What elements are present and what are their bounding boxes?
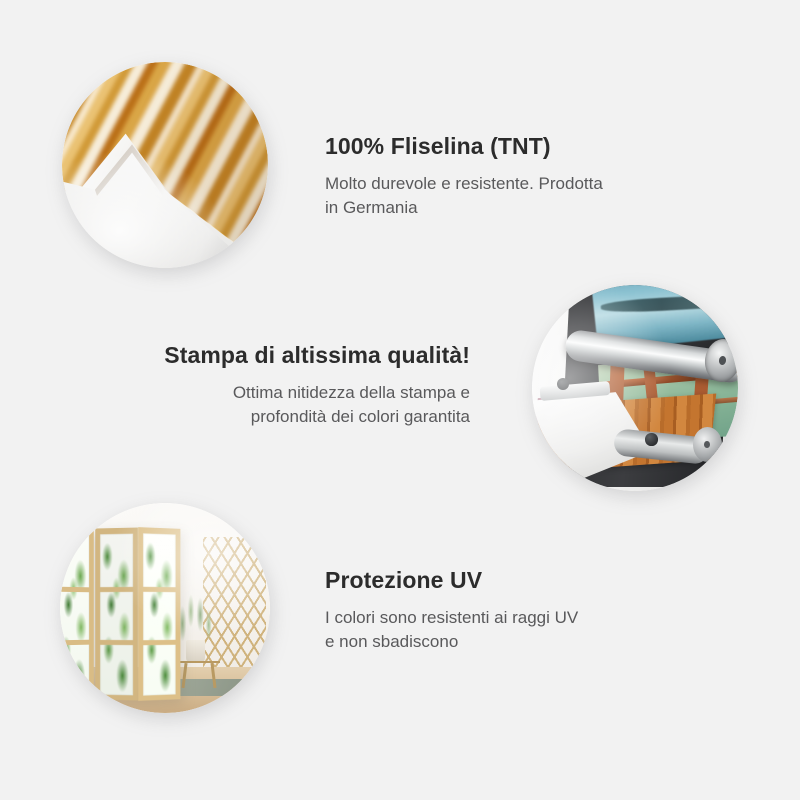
divider-panel: [139, 527, 182, 701]
wallpaper-roll-peeled-corner-image: [62, 62, 268, 268]
feature-text-protezione-uv: Protezione UV I colori sono resistenti a…: [325, 566, 675, 654]
large-format-printer-image: [532, 285, 738, 491]
tropical-room-divider-image: [60, 503, 270, 713]
feature-description-line-2: in Germania: [325, 198, 418, 217]
printer-lower-roller-cap: [693, 427, 722, 462]
feature-description-line-1: Molto durevole e resistente. Prodotta: [325, 174, 603, 193]
feature-description: Molto durevole e resistente. Prodotta in…: [325, 172, 675, 220]
feature-heading: Stampa di altissima qualità!: [120, 341, 470, 370]
divider-panel: [60, 527, 94, 702]
product-features-infographic: 100% Fliselina (TNT) Molto durevole e re…: [0, 0, 800, 800]
feature-text-fliselina: 100% Fliselina (TNT) Molto durevole e re…: [325, 132, 675, 220]
feature-description: Ottima nitidezza della stampa e profondi…: [120, 381, 470, 429]
feature-text-stampa: Stampa di altissima qualità! Ottima niti…: [120, 341, 470, 429]
plant-pot: [186, 640, 205, 663]
printer-knob: [557, 378, 569, 390]
divider-panel: [95, 528, 138, 701]
feature-description-line-1: Ottima nitidezza della stampa e: [233, 383, 470, 402]
side-table: [178, 661, 220, 688]
feature-description-line-2: profondità dei colori garantita: [251, 407, 470, 426]
circular-image-mask: [62, 62, 268, 268]
folding-room-divider: [60, 528, 182, 700]
wallpaper-highlight: [62, 62, 268, 268]
feature-description-line-1: I colori sono resistenti ai raggi UV: [325, 608, 578, 627]
feature-description-line-2: e non sbadiscono: [325, 632, 458, 651]
circular-image-mask: [60, 503, 270, 713]
feature-heading: 100% Fliselina (TNT): [325, 132, 675, 161]
feature-heading: Protezione UV: [325, 566, 675, 595]
feature-description: I colori sono resistenti ai raggi UV e n…: [325, 606, 675, 654]
printer-knob: [645, 433, 657, 445]
circular-image-mask: [532, 285, 738, 491]
